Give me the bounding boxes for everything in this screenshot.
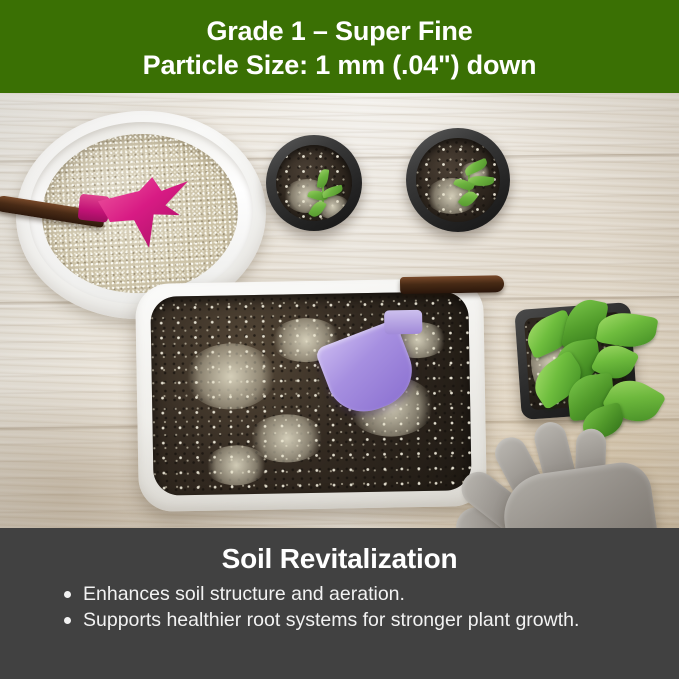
cultivator-fork bbox=[95, 168, 196, 254]
white-rectangular-tub bbox=[135, 278, 487, 512]
header-banner: Grade 1 – Super Fine Particle Size: 1 mm… bbox=[0, 0, 679, 93]
pot-soil bbox=[276, 145, 352, 221]
black-nursery-pot-2 bbox=[406, 128, 510, 232]
product-info-card: Grade 1 – Super Fine Particle Size: 1 mm… bbox=[0, 0, 679, 679]
benefits-title: Soil Revitalization bbox=[222, 542, 458, 576]
seedling-leaf bbox=[317, 168, 330, 188]
seedling-plant bbox=[450, 156, 500, 208]
seedling-leaf bbox=[463, 158, 489, 176]
header-grade-line: Grade 1 – Super Fine bbox=[206, 14, 472, 48]
header-particle-size-line: Particle Size: 1 mm (.04") down bbox=[143, 48, 537, 82]
seedling-plant bbox=[302, 167, 346, 215]
trowel-handle bbox=[400, 275, 504, 294]
seedling-leaf bbox=[321, 185, 344, 199]
benefits-panel: Soil Revitalization Enhances soil struct… bbox=[0, 528, 679, 679]
pink-hand-cultivator-icon bbox=[77, 168, 196, 257]
benefit-item: Supports healthier root systems for stro… bbox=[64, 608, 647, 633]
pot-soil bbox=[416, 138, 500, 222]
benefit-item: Enhances soil structure and aeration. bbox=[64, 582, 647, 607]
trowel-neck bbox=[384, 310, 422, 335]
product-photo bbox=[0, 93, 679, 528]
seedling-leaf bbox=[458, 188, 479, 210]
black-nursery-pot-1 bbox=[266, 135, 362, 231]
benefits-list: Enhances soil structure and aeration. Su… bbox=[22, 582, 657, 634]
